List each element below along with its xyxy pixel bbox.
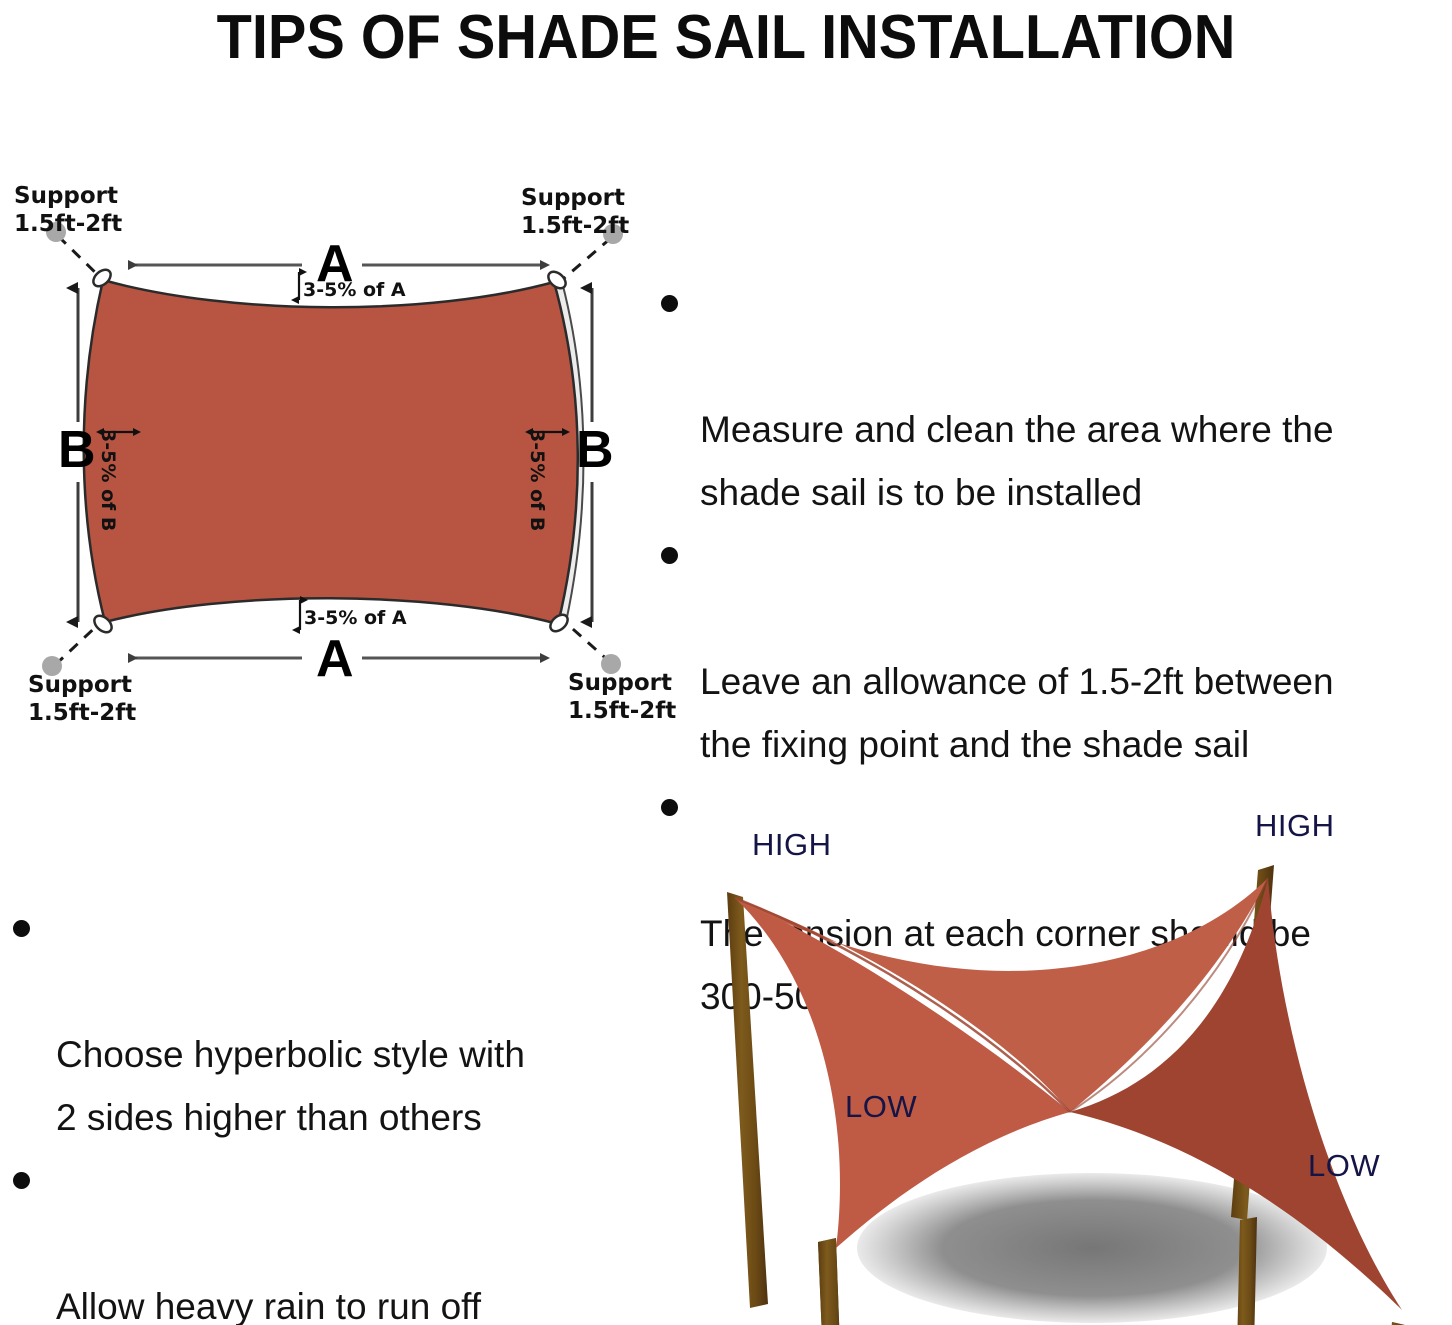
support-label-top-right: Support 1.5ft-2ft: [521, 184, 629, 240]
list-item: Allow heavy rain to run off and also mak…: [8, 1149, 628, 1325]
style-tip-text: Allow heavy rain to run off and also mak…: [56, 1286, 509, 1325]
page-title: TIPS OF SHADE SAIL INSTALLATION: [51, 2, 1401, 73]
support-label-bottom-left-line2: 1.5ft-2ft: [28, 699, 136, 727]
sag-note-left: 3-5% of B: [98, 429, 117, 531]
support-label-bottom-left-line1: Support: [28, 671, 136, 699]
support-label-top-left-line2: 1.5ft-2ft: [14, 210, 122, 238]
dimension-letter-A-bottom: A: [316, 633, 354, 685]
label-high-right: HIGH: [1255, 808, 1335, 844]
shade-sail-shape: [84, 280, 578, 624]
bullet-dot-icon: [13, 920, 30, 937]
sag-note-right: 3-5% of B: [527, 429, 546, 531]
list-item: Measure and clean the area where the sha…: [652, 272, 1452, 524]
style-tip-text: Choose hyperbolic style with 2 sides hig…: [56, 1034, 525, 1138]
sag-note-top: 3-5% of A: [303, 281, 406, 300]
bullet-dot-icon: [661, 547, 678, 564]
tip-text: Measure and clean the area where the sha…: [700, 409, 1334, 513]
support-label-top-left: Support 1.5ft-2ft: [14, 182, 122, 238]
support-label-top-left-line1: Support: [14, 182, 122, 210]
label-low-left: LOW: [845, 1089, 917, 1125]
hyperbolic-style-tips-list: Choose hyperbolic style with 2 sides hig…: [8, 897, 628, 1325]
tip-text: Leave an allowance of 1.5-2ft between th…: [700, 661, 1334, 765]
post-low-left-front: [818, 1238, 843, 1325]
support-label-top-right-line1: Support: [521, 184, 629, 212]
list-item: Leave an allowance of 1.5-2ft between th…: [652, 524, 1452, 776]
bullet-dot-icon: [13, 1172, 30, 1189]
dimension-letter-B-right: B: [576, 424, 614, 476]
bullet-dot-icon: [661, 295, 678, 312]
support-label-top-right-line2: 1.5ft-2ft: [521, 212, 629, 240]
label-low-right: LOW: [1308, 1148, 1380, 1184]
support-label-bottom-left: Support 1.5ft-2ft: [28, 671, 136, 727]
dimension-letter-B-left: B: [58, 424, 96, 476]
sag-note-bottom: 3-5% of A: [304, 609, 407, 628]
label-high-left: HIGH: [752, 827, 832, 863]
page-root: TIPS OF SHADE SAIL INSTALLATION: [0, 0, 1452, 1325]
ground-shadow: [857, 1173, 1327, 1323]
list-item: Choose hyperbolic style with 2 sides hig…: [8, 897, 628, 1149]
